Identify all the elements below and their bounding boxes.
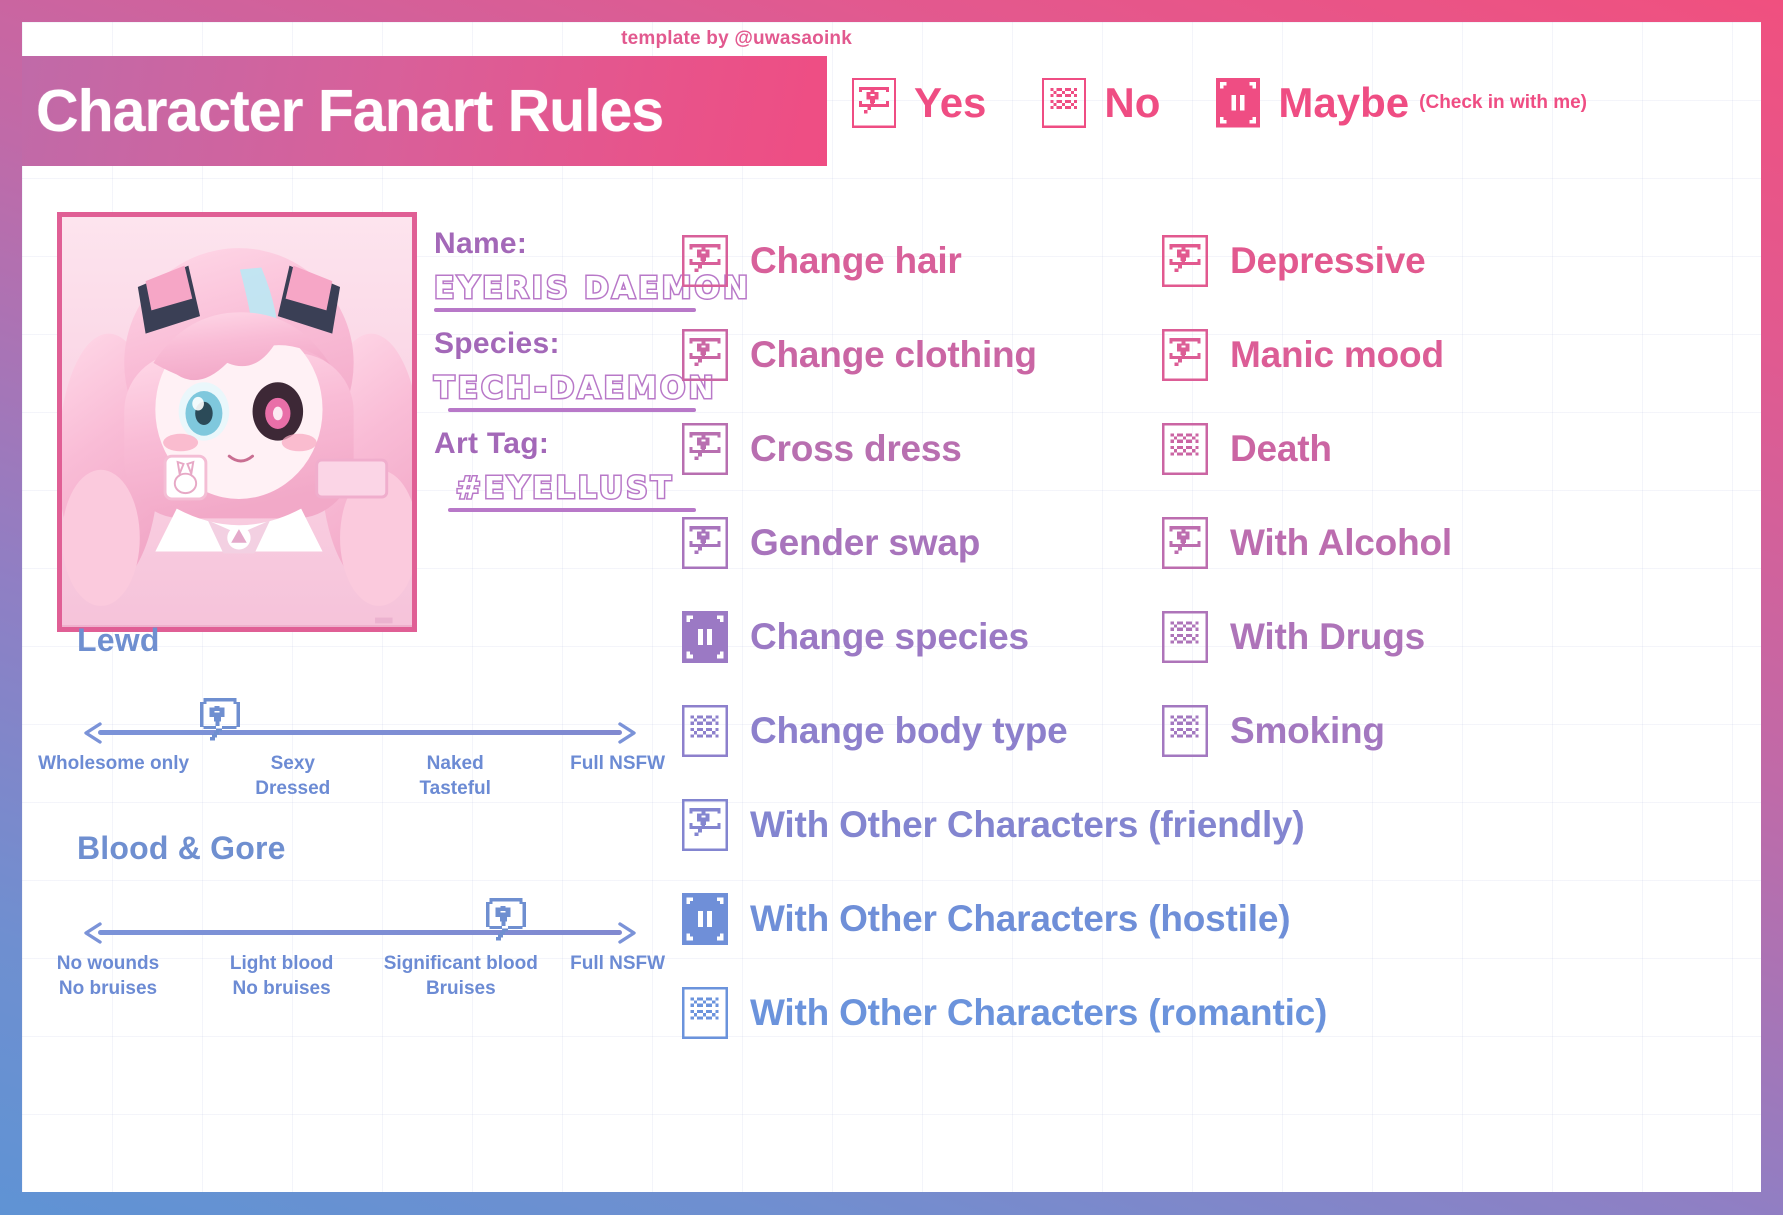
poster-canvas: template by @uwasaoink Character Fanart … xyxy=(0,0,1783,1215)
legend-item-yes: Yes xyxy=(852,78,986,128)
character-portrait xyxy=(57,212,417,632)
tick-line1: Wholesome only xyxy=(38,752,189,777)
tick-line1: Naked xyxy=(419,752,490,777)
slider[interactable]: No woundsNo bruisesLight bloodNo bruises… xyxy=(80,912,640,1012)
slider-axis[interactable] xyxy=(80,712,640,752)
checklist-label: Change species xyxy=(750,616,1029,658)
checklist-label: Cross dress xyxy=(750,428,962,470)
tick-line2: No bruises xyxy=(230,977,333,1002)
tick-line1: Sexy xyxy=(255,752,330,777)
legend-label: Yes xyxy=(914,79,986,127)
slider-heading: Blood & Gore xyxy=(77,830,286,867)
heart-yes-icon[interactable] xyxy=(1162,329,1208,381)
tick-line1: Significant blood xyxy=(384,952,538,977)
checklist-label: With Alcohol xyxy=(1230,522,1452,564)
slider-marker-heart-icon[interactable] xyxy=(483,896,529,955)
checklist-label: Death xyxy=(1230,428,1332,470)
tick-line2: No bruises xyxy=(57,977,159,1002)
checklist-label: Smoking xyxy=(1230,710,1385,752)
checklist-label: Change hair xyxy=(750,240,962,282)
cross-no-icon[interactable] xyxy=(682,705,728,757)
heart-yes-icon[interactable] xyxy=(682,329,728,381)
checklist-row[interactable]: With Other Characters (hostile) xyxy=(682,872,1472,966)
field-value[interactable]: #EYELLUST xyxy=(434,471,696,506)
checklist-right-column: Depressive Manic mood xyxy=(1162,214,1761,778)
checklist-row[interactable]: With Other Characters (friendly) xyxy=(682,778,1472,872)
heart-yes-icon[interactable] xyxy=(682,799,728,851)
field-arttag: Art Tag: #EYELLUST xyxy=(434,427,696,512)
heart-yes-icon[interactable] xyxy=(852,78,896,128)
checklist-label: Depressive xyxy=(1230,240,1425,282)
slider-track[interactable] xyxy=(98,730,622,735)
field-caption: Art Tag: xyxy=(434,427,696,461)
checklist-row[interactable]: With Drugs xyxy=(1162,590,1761,684)
field-caption: Name: xyxy=(434,227,696,261)
slider-tick-label: NakedTasteful xyxy=(419,752,490,801)
checklist-row[interactable]: With Other Characters (romantic) xyxy=(682,966,1472,1060)
slider-track[interactable] xyxy=(98,930,622,935)
legend-label: Maybe xyxy=(1278,79,1409,127)
slider-tick-labels: Wholesome onlySexyDressedNakedTastefulFu… xyxy=(80,752,640,812)
cross-no-icon[interactable] xyxy=(1162,705,1208,757)
slider-tick-labels: No woundsNo bruisesLight bloodNo bruises… xyxy=(80,952,640,1012)
tick-line2: Bruises xyxy=(384,977,538,1002)
heart-yes-icon[interactable] xyxy=(682,517,728,569)
field-value[interactable]: EYERIS DAEMON xyxy=(434,271,696,306)
checklist-label: Change body type xyxy=(750,710,1068,752)
slider-tick-label: Significant bloodBruises xyxy=(384,952,538,1001)
checklist-label: Change clothing xyxy=(750,334,1037,376)
checklist-label: Gender swap xyxy=(750,522,980,564)
arrow-left-icon xyxy=(80,920,106,946)
portrait-artwork xyxy=(62,217,412,625)
checklist-label: With Other Characters (romantic) xyxy=(750,992,1327,1034)
page-title: Character Fanart Rules xyxy=(22,77,663,145)
legend-item-no: No xyxy=(1042,78,1160,128)
checklist-label: With Other Characters (friendly) xyxy=(750,804,1305,846)
legend-sublabel: (Check in with me) xyxy=(1419,92,1587,114)
checklist-label: With Drugs xyxy=(1230,616,1425,658)
field-species: Species: TECH-DAEMON xyxy=(434,327,696,412)
poster-sheet: template by @uwasaoink Character Fanart … xyxy=(22,22,1761,1192)
cross-no-icon[interactable] xyxy=(682,987,728,1039)
tick-line2: Tasteful xyxy=(419,777,490,802)
heart-yes-icon[interactable] xyxy=(1162,235,1208,287)
slider-tick-label: No woundsNo bruises xyxy=(57,952,159,1001)
checklist-row[interactable]: Depressive xyxy=(1162,214,1761,308)
arrow-right-icon xyxy=(614,920,640,946)
field-underline xyxy=(434,308,696,312)
legend-item-maybe: Maybe(Check in with me) xyxy=(1216,78,1587,128)
heart-yes-icon[interactable] xyxy=(1162,517,1208,569)
field-underline xyxy=(448,508,696,512)
slider-marker-heart-icon[interactable] xyxy=(197,696,243,755)
field-value[interactable]: TECH-DAEMON xyxy=(434,371,696,406)
arrow-right-icon xyxy=(614,720,640,746)
tick-line1: Full NSFW xyxy=(570,952,665,977)
field-name: Name: EYERIS DAEMON xyxy=(434,227,696,312)
tick-line1: Light blood xyxy=(230,952,333,977)
checklist-label: With Other Characters (hostile) xyxy=(750,898,1290,940)
arrow-left-icon xyxy=(80,720,106,746)
cross-no-icon[interactable] xyxy=(1042,78,1086,128)
legend: Yes xyxy=(852,78,1587,128)
slider-axis[interactable] xyxy=(80,912,640,952)
checklist-row[interactable]: With Alcohol xyxy=(1162,496,1761,590)
checklist-label: Manic mood xyxy=(1230,334,1444,376)
checklist-row[interactable]: Manic mood xyxy=(1162,308,1761,402)
slider-tick-label: SexyDressed xyxy=(255,752,330,801)
cross-no-icon[interactable] xyxy=(1162,423,1208,475)
heart-yes-icon[interactable] xyxy=(682,235,728,287)
field-underline xyxy=(448,408,696,412)
field-caption: Species: xyxy=(434,327,696,361)
pause-maybe-icon[interactable] xyxy=(682,893,728,945)
title-bar: Character Fanart Rules xyxy=(22,56,827,166)
slider[interactable]: Wholesome onlySexyDressedNakedTastefulFu… xyxy=(80,712,640,812)
heart-yes-icon[interactable] xyxy=(682,423,728,475)
slider-tick-label: Light bloodNo bruises xyxy=(230,952,333,1001)
legend-label: No xyxy=(1104,79,1160,127)
pause-maybe-icon[interactable] xyxy=(682,611,728,663)
tick-line2: Dressed xyxy=(255,777,330,802)
tick-line1: No wounds xyxy=(57,952,159,977)
cross-no-icon[interactable] xyxy=(1162,611,1208,663)
tick-line1: Full NSFW xyxy=(570,752,665,777)
checklist-row[interactable]: Smoking xyxy=(1162,684,1761,778)
pause-maybe-icon[interactable] xyxy=(1216,78,1260,128)
slider-heading: Lewd xyxy=(77,622,160,659)
slider-tick-label: Wholesome only xyxy=(38,752,189,777)
checklist-row[interactable]: Death xyxy=(1162,402,1761,496)
template-credit: template by @uwasaoink xyxy=(22,28,852,50)
slider-tick-label: Full NSFW xyxy=(570,752,665,777)
slider-tick-label: Full NSFW xyxy=(570,952,665,977)
